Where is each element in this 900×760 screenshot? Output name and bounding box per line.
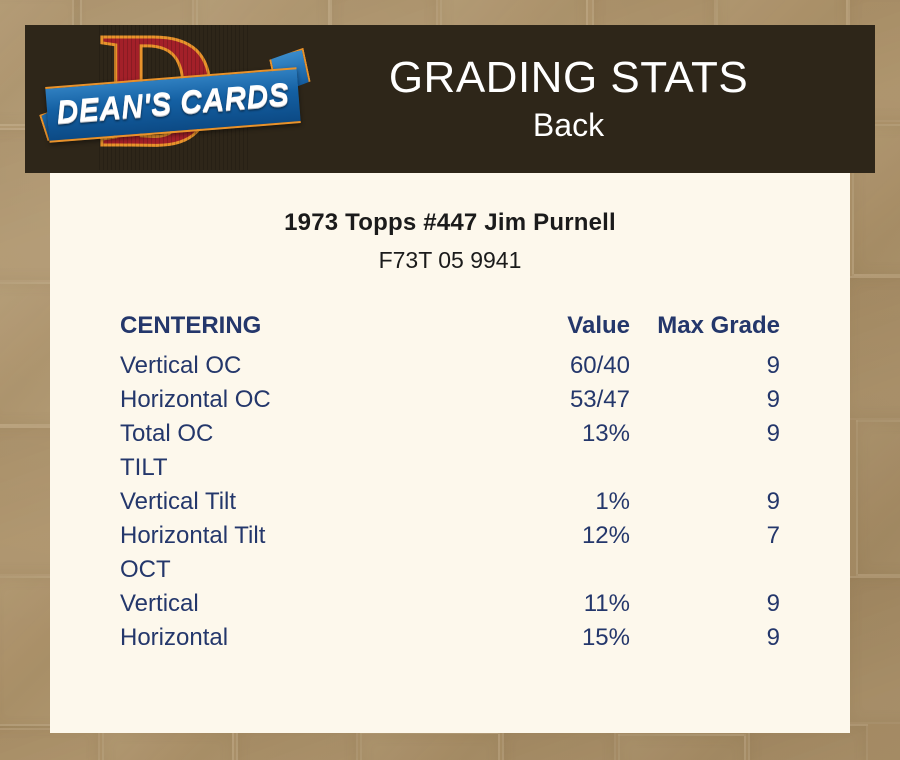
table-row: Horizontal15%9 xyxy=(120,621,780,655)
deans-cards-logo: D DEAN'S CARDS xyxy=(47,29,302,169)
table-row: Total OC13%9 xyxy=(120,417,780,451)
row-label: Horizontal OC xyxy=(120,383,480,417)
section-name: OCT xyxy=(120,553,480,587)
table-header: CENTERING Value Max Grade xyxy=(120,312,780,349)
header-title-group: GRADING STATS Back xyxy=(302,53,875,145)
logo-ribbon-text: DEAN'S CARDS xyxy=(55,78,290,132)
content-panel: 1973 Topps #447 Jim Purnell F73T 05 9941… xyxy=(50,173,850,733)
section-value-spacer xyxy=(480,451,630,485)
section-name: TILT xyxy=(120,451,480,485)
section-grade-spacer xyxy=(630,451,780,485)
row-label: Vertical OC xyxy=(120,349,480,383)
table-row: Vertical Tilt1%9 xyxy=(120,485,780,519)
row-value: 15% xyxy=(480,621,630,655)
table-section-header: OCT xyxy=(120,553,780,587)
table-row: Vertical11%9 xyxy=(120,587,780,621)
row-max-grade: 9 xyxy=(630,417,780,451)
row-value: 1% xyxy=(480,485,630,519)
row-max-grade: 7 xyxy=(630,519,780,553)
row-value: 11% xyxy=(480,587,630,621)
column-header-category: CENTERING xyxy=(120,312,480,349)
column-header-max-grade: Max Grade xyxy=(630,312,780,349)
column-header-value: Value xyxy=(480,312,630,349)
row-max-grade: 9 xyxy=(630,485,780,519)
section-value-spacer xyxy=(480,553,630,587)
row-value: 12% xyxy=(480,519,630,553)
table-row: Horizontal OC53/479 xyxy=(120,383,780,417)
row-value: 53/47 xyxy=(480,383,630,417)
row-label: Vertical Tilt xyxy=(120,485,480,519)
row-label: Horizontal Tilt xyxy=(120,519,480,553)
grading-stats-table: CENTERING Value Max Grade Vertical OC60/… xyxy=(120,312,780,655)
row-label: Horizontal xyxy=(120,621,480,655)
row-max-grade: 9 xyxy=(630,621,780,655)
table-section-header: TILT xyxy=(120,451,780,485)
table-row: Horizontal Tilt12%7 xyxy=(120,519,780,553)
row-label: Total OC xyxy=(120,417,480,451)
table-header-row: CENTERING Value Max Grade xyxy=(120,312,780,349)
logo-ribbon-banner: DEAN'S CARDS xyxy=(45,67,301,143)
card-serial-number: F73T 05 9941 xyxy=(50,247,850,274)
row-max-grade: 9 xyxy=(630,349,780,383)
row-value: 13% xyxy=(480,417,630,451)
section-grade-spacer xyxy=(630,553,780,587)
table-body: Vertical OC60/409Horizontal OC53/479Tota… xyxy=(120,349,780,655)
page-title: GRADING STATS xyxy=(302,53,835,103)
row-max-grade: 9 xyxy=(630,587,780,621)
table-row: Vertical OC60/409 xyxy=(120,349,780,383)
row-label: Vertical xyxy=(120,587,480,621)
page-subtitle: Back xyxy=(302,105,835,145)
card-title: 1973 Topps #447 Jim Purnell xyxy=(50,209,850,237)
row-max-grade: 9 xyxy=(630,383,780,417)
header-bar: D DEAN'S CARDS GRADING STATS Back xyxy=(25,25,875,173)
row-value: 60/40 xyxy=(480,349,630,383)
